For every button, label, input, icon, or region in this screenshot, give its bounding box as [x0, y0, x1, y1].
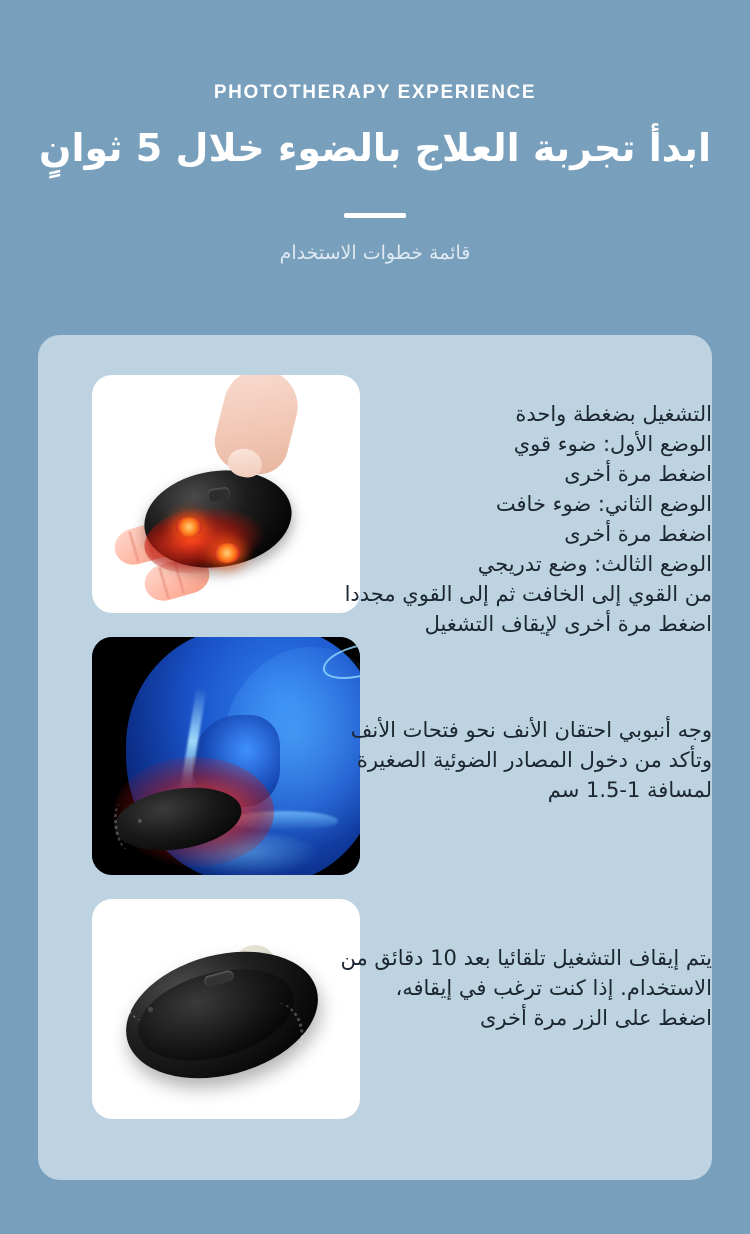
infographic-page: PHOTOTHERAPY EXPERIENCE ابدأ تجربة العلا…	[0, 0, 750, 1234]
device-indicator-dot	[148, 1007, 153, 1012]
step-row-1: التشغيل بضغطة واحدة الوضع الأول: ضوء قوي…	[38, 375, 712, 613]
device-rim-texture	[111, 802, 137, 850]
illustration-nose-treatment	[92, 637, 360, 875]
title-divider	[344, 213, 406, 218]
device-indicator-dot	[138, 819, 143, 824]
step-2-description: وجه أنبوبي احتقان الأنف نحو فتحات الأنف …	[338, 715, 712, 805]
illustration-press-device	[92, 375, 360, 613]
step-row-2: وجه أنبوبي احتقان الأنف نحو فتحات الأنف …	[38, 637, 712, 875]
led-light-icon	[214, 543, 240, 563]
led-light-icon	[176, 517, 202, 537]
device-on-nose-photo	[92, 637, 360, 875]
page-title: ابدأ تجربة العلاج بالضوء خلال 5 ثوانٍ	[0, 126, 750, 171]
header-subtitle: قائمة خطوات الاستخدام	[0, 242, 750, 264]
steps-card: التشغيل بضغطة واحدة الوضع الأول: ضوء قوي…	[38, 335, 712, 1180]
illustration-device-off	[92, 899, 360, 1119]
step-3-description: يتم إيقاف التشغيل تلقائيا بعد 10 دقائق م…	[338, 943, 712, 1033]
device-off-photo	[92, 899, 360, 1119]
header-eyebrow: PHOTOTHERAPY EXPERIENCE	[0, 82, 750, 104]
device-button-press-photo	[92, 375, 360, 613]
step-row-3: يتم إيقاف التشغيل تلقائيا بعد 10 دقائق م…	[38, 899, 712, 1119]
step-1-description: التشغيل بضغطة واحدة الوضع الأول: ضوء قوي…	[338, 399, 712, 639]
